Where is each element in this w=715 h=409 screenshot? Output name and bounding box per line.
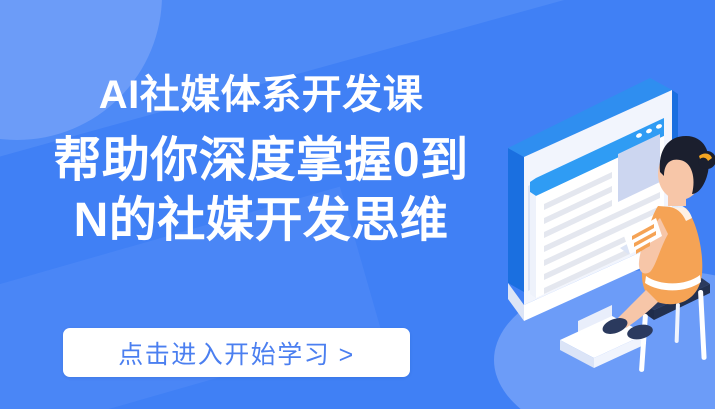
- headline-line-2: 帮助你深度掌握0到: [0, 136, 522, 186]
- chair-leg-back: [698, 290, 707, 360]
- headline-line-3: N的社媒开发思维: [0, 196, 522, 246]
- headline-block: AI社媒体系开发课 帮助你深度掌握0到 N的社媒开发思维: [0, 74, 522, 247]
- start-learning-button-label: 点击进入开始学习 >: [118, 335, 355, 371]
- promo-banner: AI社媒体系开发课 帮助你深度掌握0到 N的社媒开发思维 点击进入开始学习 >: [0, 0, 715, 409]
- start-learning-button[interactable]: 点击进入开始学习 >: [63, 328, 410, 377]
- headline-line-1: AI社媒体系开发课: [0, 74, 522, 116]
- hero-illustration: [500, 78, 715, 378]
